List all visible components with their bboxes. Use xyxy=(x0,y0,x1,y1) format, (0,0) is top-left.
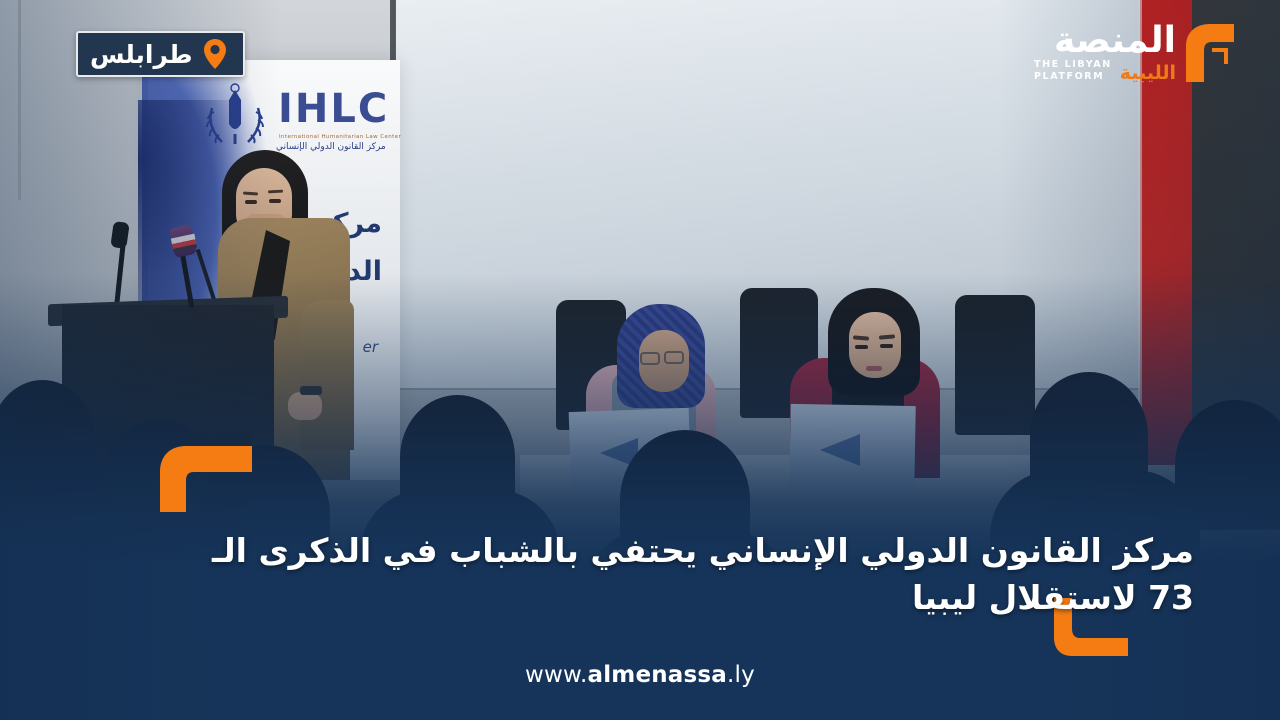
url-name: almenassa xyxy=(587,662,727,688)
location-badge[interactable]: طرابلس xyxy=(76,31,245,77)
brand-english-line-1: THE LIBYAN xyxy=(1034,59,1112,71)
brand-mark-icon xyxy=(1182,22,1238,84)
brand-wordmark: المنصة THE LIBYAN PLATFORM الليبية xyxy=(1034,24,1176,83)
url-prefix: www. xyxy=(525,662,587,688)
location-label: طرابلس xyxy=(90,42,193,67)
map-pin-icon xyxy=(203,39,227,69)
brand-second-row: THE LIBYAN PLATFORM الليبية xyxy=(1034,59,1176,83)
news-card: IHLC International Humanitarian Law Cent… xyxy=(0,0,1280,720)
brand-arabic-sub: الليبية xyxy=(1120,64,1176,83)
brand-english-line-2: PLATFORM xyxy=(1034,71,1112,83)
brand-arabic-main: المنصة xyxy=(1054,24,1176,58)
brand-logo[interactable]: المنصة THE LIBYAN PLATFORM الليبية xyxy=(1034,18,1238,98)
headline: مركز القانون الدولي الإنساني يحتفي بالشب… xyxy=(194,528,1194,622)
corner-bracket-top-left-icon xyxy=(160,446,252,512)
website-url[interactable]: www.almenassa.ly xyxy=(0,662,1280,688)
url-tld: .ly xyxy=(727,662,755,688)
brand-english: THE LIBYAN PLATFORM xyxy=(1034,59,1112,83)
